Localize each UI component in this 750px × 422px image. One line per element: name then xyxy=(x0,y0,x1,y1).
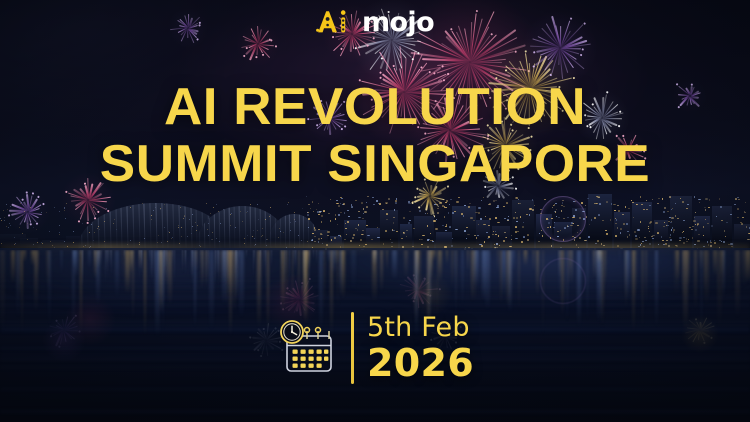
dome-reflection-rib xyxy=(166,250,167,268)
light-reflection xyxy=(594,250,599,278)
light-reflection xyxy=(524,250,528,265)
light-reflection xyxy=(374,250,376,260)
light-reflection xyxy=(506,250,511,308)
dome-reflection-rib xyxy=(313,250,314,260)
light-reflection xyxy=(536,250,539,296)
dome-reflection-rib xyxy=(182,250,183,274)
water-ripple xyxy=(0,281,750,282)
dome-reflection-rib xyxy=(124,250,125,260)
date-text: 5th Feb 2026 xyxy=(367,314,474,382)
light-reflection xyxy=(471,250,475,302)
light-reflection xyxy=(23,250,26,262)
light-reflection xyxy=(74,250,78,277)
light-reflection xyxy=(404,250,408,278)
light-reflection xyxy=(130,250,133,273)
light-reflection xyxy=(194,250,199,271)
dome-reflection-rib xyxy=(108,250,109,269)
dome-reflection-rib xyxy=(172,250,173,265)
event-banner: mojo AI REVOLUTION SUMMIT SINGAPORE xyxy=(0,0,750,422)
light-reflection xyxy=(416,250,418,276)
dome-reflection-rib xyxy=(139,250,140,283)
page-title: AI REVOLUTION SUMMIT SINGAPORE xyxy=(0,82,750,190)
dome-reflection-rib xyxy=(110,250,111,270)
dome-reflection-rib xyxy=(232,250,233,263)
light-reflection xyxy=(451,250,454,289)
dome-reflection-rib xyxy=(154,250,155,281)
dome-reflection-rib xyxy=(218,250,219,289)
dome-reflection-rib xyxy=(295,250,296,273)
light-reflection xyxy=(512,250,515,271)
dome-reflection-rib xyxy=(206,250,207,289)
water-ripple xyxy=(0,250,750,251)
dome-reflection-rib xyxy=(164,250,165,277)
dome-reflection-rib xyxy=(152,250,153,288)
dome-reflection-rib xyxy=(246,250,247,259)
dome-reflection-rib xyxy=(254,250,255,266)
water-ripple xyxy=(0,388,750,390)
date-divider xyxy=(351,312,354,384)
aimojo-logo-mark xyxy=(316,8,360,36)
dome-reflection-rib xyxy=(185,250,186,268)
dome-reflection-rib xyxy=(94,250,95,268)
light-reflection xyxy=(746,250,750,283)
light-reflection xyxy=(11,250,15,284)
light-reflection xyxy=(328,250,330,263)
light-reflection xyxy=(593,250,595,279)
dome-reflection-rib xyxy=(151,250,152,283)
dome-reflection-rib xyxy=(158,250,159,280)
light-reflection xyxy=(115,250,119,298)
dome-reflection-rib xyxy=(227,250,228,282)
dome-reflection-rib xyxy=(208,250,209,281)
dome-reflection-rib xyxy=(293,250,294,274)
dome-reflection-rib xyxy=(235,250,236,282)
calendar-clock-icon xyxy=(276,319,338,377)
water-ripple xyxy=(0,303,750,306)
dome-reflection-rib xyxy=(263,250,264,278)
dome-reflection-rib xyxy=(101,250,102,267)
dome-reflection-rib xyxy=(160,250,161,268)
water-ripple xyxy=(0,285,750,288)
light-reflection xyxy=(619,250,620,267)
logo-wordmark: mojo xyxy=(362,9,434,36)
light-reflection xyxy=(219,250,224,284)
light-reflection xyxy=(735,250,740,318)
event-date-block: 5th Feb 2026 xyxy=(0,312,750,384)
dome-reflection-rib xyxy=(239,250,240,261)
light-reflection xyxy=(481,250,485,301)
light-reflection xyxy=(392,250,397,280)
light-reflection xyxy=(446,250,448,264)
dome-reflection-rib xyxy=(265,250,266,269)
title-line-1: AI REVOLUTION xyxy=(0,82,750,132)
dome-reflection-rib xyxy=(271,250,272,269)
light-reflection xyxy=(386,250,388,270)
dome-reflection-rib xyxy=(260,250,261,262)
light-reflection xyxy=(61,250,62,274)
light-reflection xyxy=(676,250,679,281)
date-day-month: 5th Feb xyxy=(367,314,474,341)
dome-reflection-rib xyxy=(141,250,142,279)
light-reflection xyxy=(467,250,469,271)
light-reflection xyxy=(683,250,686,271)
dome-reflection-rib xyxy=(99,250,100,266)
light-reflection xyxy=(625,250,630,300)
light-reflection xyxy=(533,250,534,272)
dome-reflection-rib xyxy=(253,250,254,279)
dome-reflection-rib xyxy=(316,250,317,265)
light-reflection xyxy=(341,250,346,299)
title-line-2: SUMMIT SINGAPORE xyxy=(0,139,750,189)
brand-logo[interactable]: mojo xyxy=(0,8,750,36)
dome-reflection-rib xyxy=(106,250,107,270)
dome-reflection-rib xyxy=(149,250,150,263)
dome-reflection-rib xyxy=(306,250,307,272)
dome-reflection-rib xyxy=(192,250,193,289)
light-reflection xyxy=(16,250,20,318)
light-reflection xyxy=(88,250,92,268)
date-year: 2026 xyxy=(367,344,474,382)
dome-reflection-rib xyxy=(281,250,282,271)
water-ripple xyxy=(0,410,750,413)
water-ripple xyxy=(0,296,750,299)
light-reflection xyxy=(497,250,500,274)
dome-reflection-rib xyxy=(215,250,216,290)
